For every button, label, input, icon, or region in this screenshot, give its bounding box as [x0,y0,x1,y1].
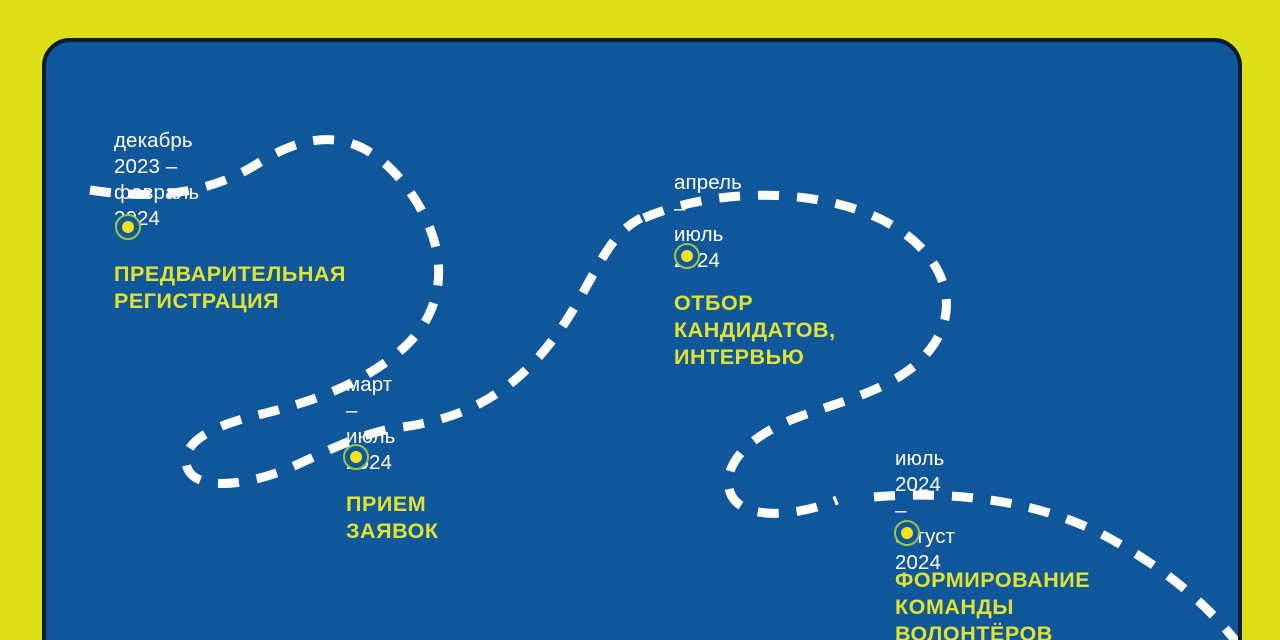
marker-dot [681,250,693,262]
marker-dot [122,221,134,233]
dashed-route-path [42,38,1242,640]
roadmap-panel: декабрь 2023 – февраль 2024 ПРЕДВАРИТЕЛЬ… [42,38,1242,640]
stage-title: ПРЕДВАРИТЕЛЬНАЯ РЕГИСТРАЦИЯ [114,261,346,315]
stage-title: ФОРМИРОВАНИЕ КОМАНДЫ ВОЛОНТЁРОВ [895,567,1090,640]
stage-title: ПРИЕМ ЗАЯВОК [346,491,439,545]
location-dot-icon[interactable] [343,444,369,470]
stage-title: ОТБОР КАНДИДАТОВ, ИНТЕРВЬЮ [674,290,836,371]
stage-date: июль 2024 – август 2024 [895,446,955,576]
location-dot-icon[interactable] [894,520,920,546]
marker-dot [350,451,362,463]
location-dot-icon[interactable] [674,243,700,269]
roadmap-infographic: декабрь 2023 – февраль 2024 ПРЕДВАРИТЕЛЬ… [0,0,1280,640]
marker-dot [901,527,913,539]
location-dot-icon[interactable] [115,214,141,240]
